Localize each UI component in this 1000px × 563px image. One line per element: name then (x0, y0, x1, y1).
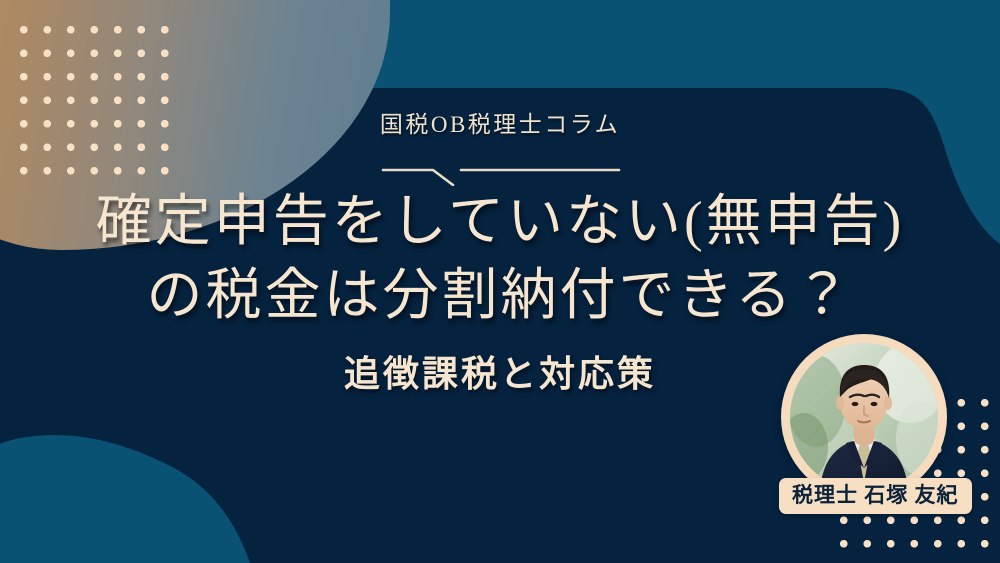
dot-pattern-icon-top-left-extension (102, 14, 172, 180)
decor-divider-icon (381, 158, 621, 186)
author-name-badge: 税理士 石塚 友紀 (779, 478, 972, 514)
title-line-1: 確定申告をしていない(無申告) (0, 186, 1000, 260)
eyebrow-label: 国税OB税理士コラム (0, 113, 1000, 136)
title-line-2: の税金は分割納付できる？ (0, 260, 1000, 334)
avatar-photo (790, 343, 938, 491)
thumbnail-canvas: 国税OB税理士コラム 確定申告をしていない(無申告) の税金は分割納付できる？ … (0, 0, 1000, 563)
page-title: 確定申告をしていない(無申告) の税金は分割納付できる？ (0, 186, 1000, 334)
avatar (781, 334, 947, 500)
